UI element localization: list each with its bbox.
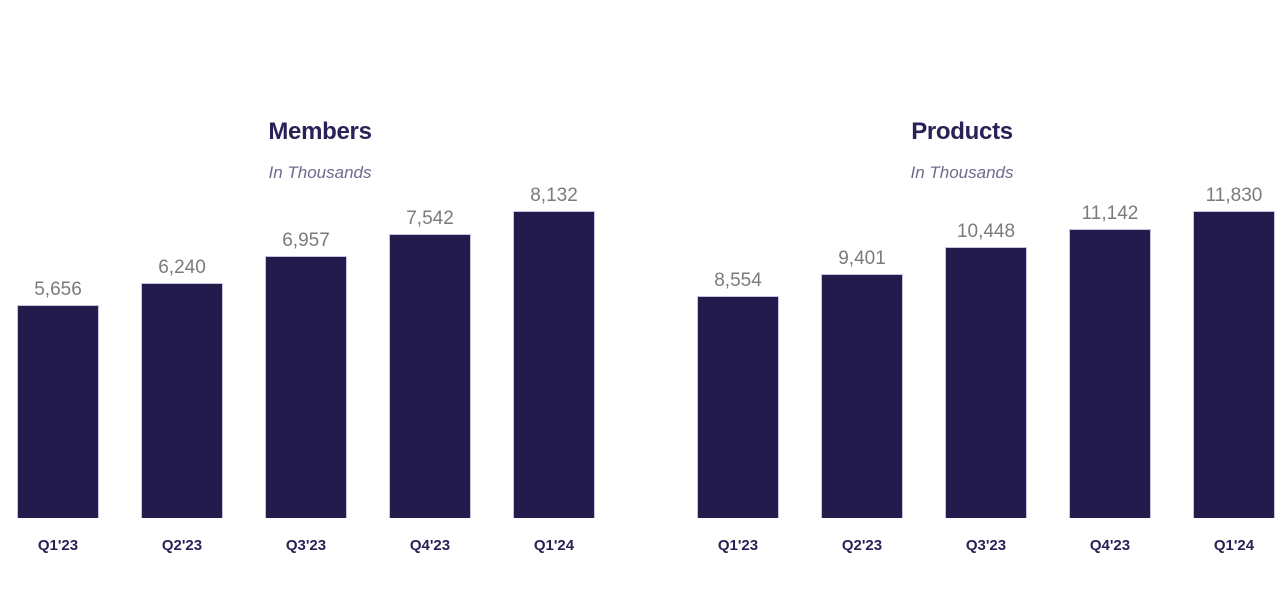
bar-value-label: 9,401	[795, 248, 929, 270]
bar-group: 8,554Q1'23	[697, 296, 779, 518]
category-label: Q1'23	[671, 537, 805, 554]
bar-value-label: 11,830	[1167, 185, 1284, 207]
bar-group: 6,957Q3'23	[265, 256, 347, 518]
bar-value-label: 6,240	[115, 257, 249, 279]
bar-value-label: 11,142	[1043, 203, 1177, 225]
bar-group: 9,401Q2'23	[821, 274, 903, 518]
category-label: Q2'23	[795, 537, 929, 554]
category-label: Q1'23	[0, 537, 125, 554]
bar[interactable]	[1193, 211, 1275, 518]
bar-value-label: 8,132	[487, 185, 621, 207]
bar[interactable]	[945, 247, 1027, 518]
bar[interactable]	[389, 234, 471, 518]
bar-group: 6,240Q2'23	[141, 283, 223, 518]
bar-group: 7,542Q4'23	[389, 234, 471, 518]
plot-area-products: 8,554Q1'239,401Q2'2310,448Q3'2311,142Q4'…	[640, 0, 1284, 600]
category-label: Q4'23	[1043, 537, 1177, 554]
bar-group: 11,830Q1'24	[1193, 211, 1275, 518]
bar-value-label: 10,448	[919, 221, 1053, 243]
bar-value-label: 6,957	[239, 230, 373, 252]
bar-group: 11,142Q4'23	[1069, 229, 1151, 518]
category-label: Q4'23	[363, 537, 497, 554]
bar[interactable]	[1069, 229, 1151, 518]
category-label: Q3'23	[919, 537, 1053, 554]
bar-value-label: 7,542	[363, 208, 497, 230]
chart-panel-products: Products In Thousands 8,554Q1'239,401Q2'…	[640, 0, 1284, 600]
chart-canvas: Members In Thousands 5,656Q1'236,240Q2'2…	[0, 0, 1284, 600]
bar[interactable]	[265, 256, 347, 518]
bar-group: 5,656Q1'23	[17, 305, 99, 518]
bar-group: 10,448Q3'23	[945, 247, 1027, 518]
bar-value-label: 5,656	[0, 279, 125, 301]
bar[interactable]	[821, 274, 903, 518]
chart-panel-members: Members In Thousands 5,656Q1'236,240Q2'2…	[0, 0, 640, 600]
bar[interactable]	[17, 305, 99, 518]
category-label: Q2'23	[115, 537, 249, 554]
bar[interactable]	[697, 296, 779, 518]
bar-group: 8,132Q1'24	[513, 211, 595, 518]
bar[interactable]	[141, 283, 223, 518]
category-label: Q1'24	[487, 537, 621, 554]
category-label: Q3'23	[239, 537, 373, 554]
bar-value-label: 8,554	[671, 270, 805, 292]
plot-area-members: 5,656Q1'236,240Q2'236,957Q3'237,542Q4'23…	[0, 0, 640, 600]
category-label: Q1'24	[1167, 537, 1284, 554]
bar[interactable]	[513, 211, 595, 518]
